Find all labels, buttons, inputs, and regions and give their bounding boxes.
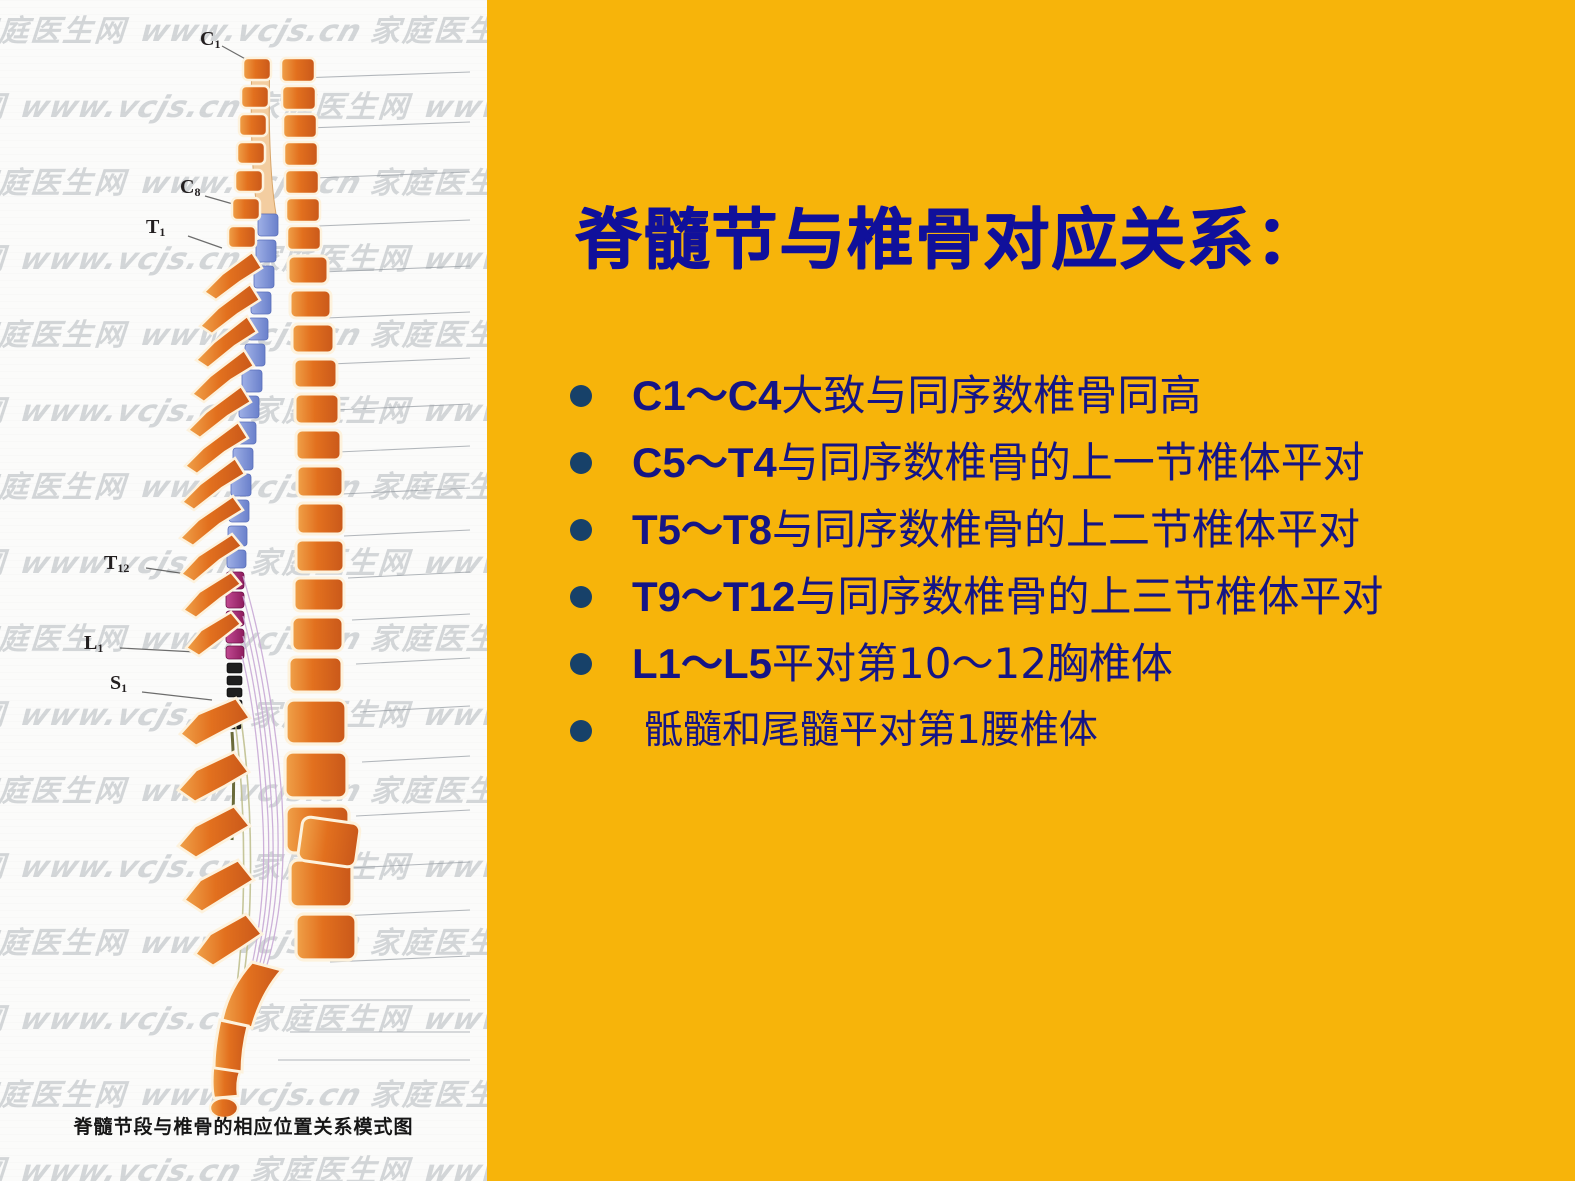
bullet-text: L1～L5平对第10～12胸椎体 bbox=[632, 643, 1555, 685]
bullet-body: 与同序数椎骨的上一节椎体平对 bbox=[777, 438, 1365, 487]
bullet-code: L1～L5 bbox=[632, 640, 772, 687]
page-title: 脊髓节与椎骨对应关系： bbox=[575, 186, 1323, 282]
bullet-dot-icon bbox=[570, 385, 592, 407]
spine-figure-panel: 家庭医生网 www.vcjs.cn 家庭医生网 www.vcjs.cn家庭医生网… bbox=[0, 0, 487, 1181]
level-label-t12: T12 bbox=[104, 552, 129, 575]
spine-illustration bbox=[0, 0, 487, 1181]
bullet-text: T5～T8与同序数椎骨的上二节椎体平对 bbox=[632, 509, 1555, 551]
bullet-body: 与同序数椎骨的上二节椎体平对 bbox=[772, 505, 1360, 554]
slide-root: 家庭医生网 www.vcjs.cn 家庭医生网 www.vcjs.cn家庭医生网… bbox=[0, 0, 1575, 1181]
bullet-dot-icon bbox=[570, 452, 592, 474]
bullet-body: 大致与同序数椎骨同高 bbox=[781, 371, 1201, 420]
bullet-body: 与同序数椎骨的上三节椎体平对 bbox=[795, 572, 1383, 621]
bullet-body: 平对第10～12胸椎体 bbox=[772, 639, 1173, 688]
figure-caption: 脊髓节段与椎骨的相应位置关系模式图 bbox=[0, 1112, 487, 1139]
level-label-c1: C1 bbox=[200, 28, 220, 51]
level-label-s1: S1 bbox=[110, 672, 127, 695]
bullet-dot-icon bbox=[570, 720, 592, 742]
bullet-row: 骶髓和尾髓平对第1腰椎体 bbox=[570, 697, 1555, 764]
bullet-code: T9～T12 bbox=[632, 573, 795, 620]
bullet-row: L1～L5平对第10～12胸椎体 bbox=[570, 630, 1555, 697]
bullet-text: T9～T12与同序数椎骨的上三节椎体平对 bbox=[632, 576, 1555, 618]
bullet-text: C5～T4与同序数椎骨的上一节椎体平对 bbox=[632, 442, 1555, 484]
bullet-list: C1～C4大致与同序数椎骨同高C5～T4与同序数椎骨的上一节椎体平对T5～T8与… bbox=[570, 362, 1555, 764]
bullet-row: C1～C4大致与同序数椎骨同高 bbox=[570, 362, 1555, 429]
bullet-body: 骶髓和尾髓平对第1腰椎体 bbox=[644, 708, 1098, 753]
bullet-row: T9～T12与同序数椎骨的上三节椎体平对 bbox=[570, 563, 1555, 630]
bullet-row: T5～T8与同序数椎骨的上二节椎体平对 bbox=[570, 496, 1555, 563]
bullet-dot-icon bbox=[570, 586, 592, 608]
bullet-row: C5～T4与同序数椎骨的上一节椎体平对 bbox=[570, 429, 1555, 496]
bullet-code: T5～T8 bbox=[632, 506, 772, 553]
bullet-dot-icon bbox=[570, 519, 592, 541]
bullet-text: C1～C4大致与同序数椎骨同高 bbox=[632, 375, 1555, 417]
level-label-t1: T1 bbox=[146, 216, 165, 239]
level-label-l1: L1 bbox=[84, 632, 103, 655]
bullet-code: C1～C4 bbox=[632, 372, 781, 419]
level-label-c8: C8 bbox=[180, 176, 200, 199]
bullet-text: 骶髓和尾髓平对第1腰椎体 bbox=[644, 711, 1555, 750]
bullet-dot-icon bbox=[570, 653, 592, 675]
bullet-code: C5～T4 bbox=[632, 439, 777, 486]
